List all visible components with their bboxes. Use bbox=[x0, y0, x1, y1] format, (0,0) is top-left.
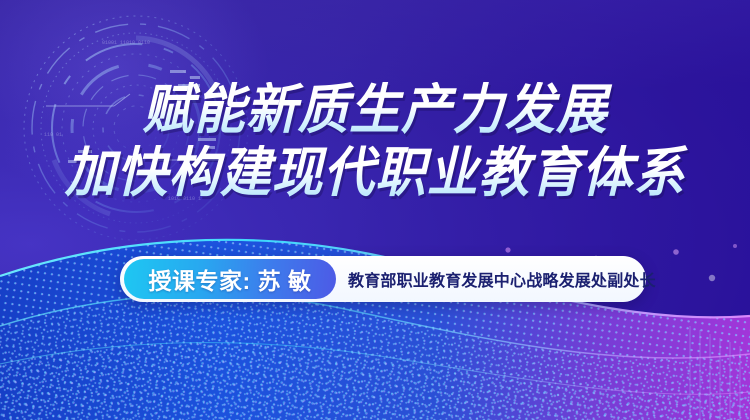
speaker-name-label: 授课专家: 苏 敏 bbox=[149, 262, 312, 296]
headline: 赋能新质生产力发展 加快构建现代职业教育体系 bbox=[0, 82, 750, 202]
course-promo-banner: 01001 11010 0110 1010 0110 1 110 01 赋能新质… bbox=[0, 0, 750, 420]
headline-line-2: 加快构建现代职业教育体系 bbox=[23, 145, 728, 202]
headline-line-1: 赋能新质生产力发展 bbox=[23, 82, 728, 139]
speaker-bar: 授课专家: 苏 敏 教育部职业教育发展中心战略发展处副处长 bbox=[120, 256, 646, 302]
speaker-name-pill: 授课专家: 苏 敏 bbox=[124, 259, 336, 299]
speaker-affiliation-label: 教育部职业教育发展中心战略发展处副处长 bbox=[348, 267, 632, 291]
svg-text:01001 11010 0110: 01001 11010 0110 bbox=[102, 40, 150, 46]
